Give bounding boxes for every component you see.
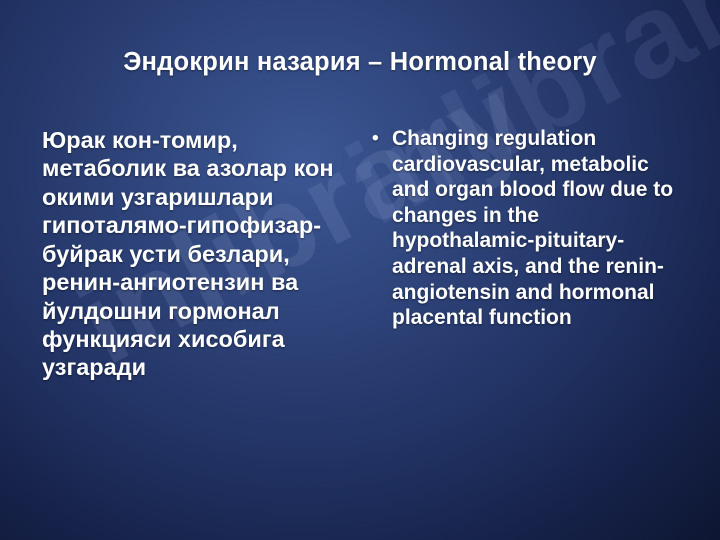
slide: inlibrary inlibrary Эндокрин назария – H… [0, 0, 720, 540]
right-column-text: Changing regulation cardiovascular, meta… [392, 126, 684, 331]
left-column-text: Юрак кон-томир, метаболик ва азолар кон … [42, 126, 342, 382]
right-column: • Changing regulation cardiovascular, me… [372, 126, 684, 331]
bullet-icon: • [372, 126, 392, 152]
slide-title: Эндокрин назария – Hormonal theory [0, 48, 720, 77]
list-item: • Changing regulation cardiovascular, me… [372, 126, 684, 331]
